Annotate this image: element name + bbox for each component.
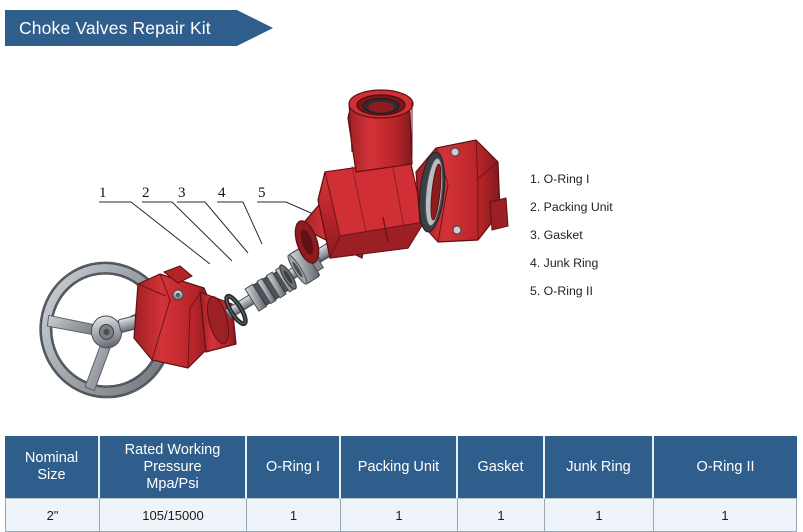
legend-item-o-ring-1: 1. O-Ring I: [530, 172, 710, 186]
page-title: Choke Valves Repair Kit: [19, 10, 211, 46]
column-header-nominal-size: NominalSize: [5, 436, 100, 499]
legend-item-o-ring-2: 5. O-Ring II: [530, 284, 710, 298]
cell-packing-unit-qty: 1: [341, 499, 458, 532]
cell-junk-ring-qty: 1: [545, 499, 654, 532]
title-banner: Choke Valves Repair Kit: [5, 10, 273, 46]
callout-number-4: 4: [218, 186, 226, 201]
legend-item-gasket: 3. Gasket: [530, 228, 710, 242]
column-header-o-ring-2: O-Ring II: [654, 436, 797, 499]
specification-table: NominalSize Rated WorkingPressureMpa/Psi…: [5, 436, 797, 532]
table-body: 2" 105/15000 1 1 1 1 1: [5, 499, 797, 532]
cell-o-ring-1-qty: 1: [247, 499, 341, 532]
column-header-rated-working-pressure: Rated WorkingPressureMpa/Psi: [100, 436, 247, 499]
legend-item-packing-unit: 2. Packing Unit: [530, 200, 710, 214]
legend-item-junk-ring: 4. Junk Ring: [530, 256, 710, 270]
callout-number-5: 5: [258, 186, 266, 201]
column-header-gasket: Gasket: [458, 436, 545, 499]
cell-rated-working-pressure: 105/15000: [100, 499, 247, 532]
cell-gasket-qty: 1: [458, 499, 545, 532]
cell-o-ring-2-qty: 1: [654, 499, 797, 532]
cell-nominal-size: 2": [5, 499, 100, 532]
callout-number-2: 2: [142, 186, 150, 201]
column-header-junk-ring: Junk Ring: [545, 436, 654, 499]
table-row: 2" 105/15000 1 1 1 1 1: [5, 499, 797, 532]
parts-legend: 1. O-Ring I 2. Packing Unit 3. Gasket 4.…: [530, 172, 710, 312]
table-header-row: NominalSize Rated WorkingPressureMpa/Psi…: [5, 436, 797, 499]
callout-number-1: 1: [99, 186, 107, 201]
callout-number-3: 3: [178, 186, 186, 201]
callout-leader-lines: [99, 202, 320, 264]
column-header-packing-unit: Packing Unit: [341, 436, 458, 499]
valve-body: [291, 90, 508, 266]
column-header-o-ring-1: O-Ring I: [247, 436, 341, 499]
bonnet-assembly: [134, 266, 236, 368]
